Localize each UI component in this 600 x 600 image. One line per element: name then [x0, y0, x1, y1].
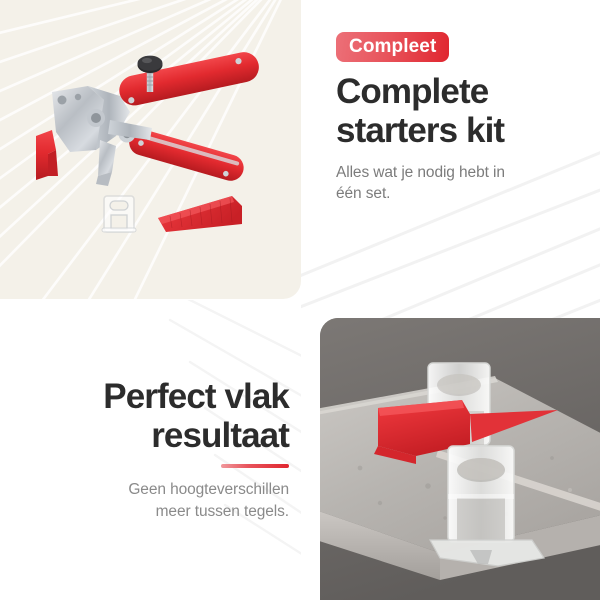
- perfect-result-subtext: Geen hoogteverschillen meer tussen tegel…: [11, 479, 289, 522]
- perfect-result-text-block: Perfect vlak resultaat Geen hoogteversch…: [11, 378, 289, 522]
- complete-kit-subtext: Alles wat je nodig hebt in één set.: [336, 162, 586, 205]
- complete-kit-subtext-line1: Alles wat je nodig hebt in: [336, 164, 505, 181]
- status-badge-compleet: Compleet: [336, 32, 449, 62]
- complete-kit-text-block: Compleet Complete starters kit Alles wat…: [336, 32, 586, 205]
- accent-underline: [221, 464, 289, 468]
- product-image-panel: [0, 0, 301, 299]
- perfect-result-subtext-line1: Geen hoogteverschillen: [128, 481, 289, 498]
- tile-clips-photo-panel: [320, 318, 600, 600]
- promo-banner: Compleet Complete starters kit Alles wat…: [0, 0, 600, 600]
- perfect-result-subtext-line2: meer tussen tegels.: [156, 503, 289, 520]
- complete-kit-heading-line1: Complete: [336, 72, 488, 111]
- complete-kit-heading-line2: starters kit: [336, 111, 504, 150]
- perfect-result-heading-line1: Perfect vlak: [103, 377, 289, 416]
- perfect-result-heading-line2: resultaat: [151, 416, 289, 455]
- pliers-product-illustration: [0, 0, 301, 299]
- perfect-result-heading: Perfect vlak resultaat: [11, 378, 289, 455]
- perfect-result-text-panel: Perfect vlak resultaat Geen hoogteversch…: [0, 300, 301, 600]
- complete-kit-heading: Complete starters kit: [336, 73, 586, 150]
- tile-leveling-photo: [320, 318, 600, 600]
- complete-kit-subtext-line2: één set.: [336, 185, 390, 202]
